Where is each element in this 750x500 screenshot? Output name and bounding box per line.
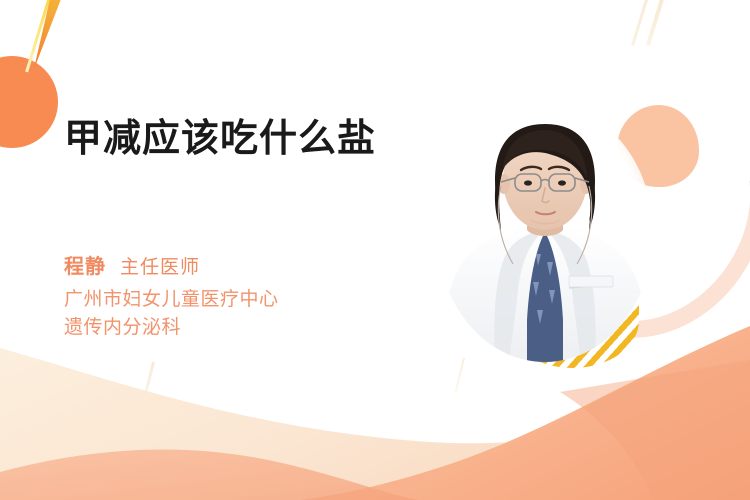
doctor-hospital: 广州市妇女儿童医疗中心 xyxy=(64,286,279,314)
doctor-identity: 程静 主任医师 xyxy=(64,250,200,279)
page-title: 甲减应该吃什么盐 xyxy=(64,116,376,164)
doctor-department: 遗传内分泌科 xyxy=(64,314,279,342)
orange-circle-decoration xyxy=(0,56,58,148)
yellow-diagonal-stripe-decoration xyxy=(25,0,55,72)
cream-diagonal-stripe-decoration-1 xyxy=(631,0,651,46)
video-cover: 甲减应该吃什么盐 程静 主任医师 广州市妇女儿童医疗中心 遗传内分泌科 xyxy=(0,0,750,500)
doctor-affiliation: 广州市妇女儿童医疗中心 遗传内分泌科 xyxy=(64,286,279,341)
doctor-portrait xyxy=(437,104,653,362)
cream-diagonal-stripe-decoration-2 xyxy=(646,0,668,46)
doctor-rank: 主任医师 xyxy=(120,252,200,279)
orange-diagonal-stripe-decoration xyxy=(27,0,70,72)
doctor-name: 程静 xyxy=(64,250,106,279)
